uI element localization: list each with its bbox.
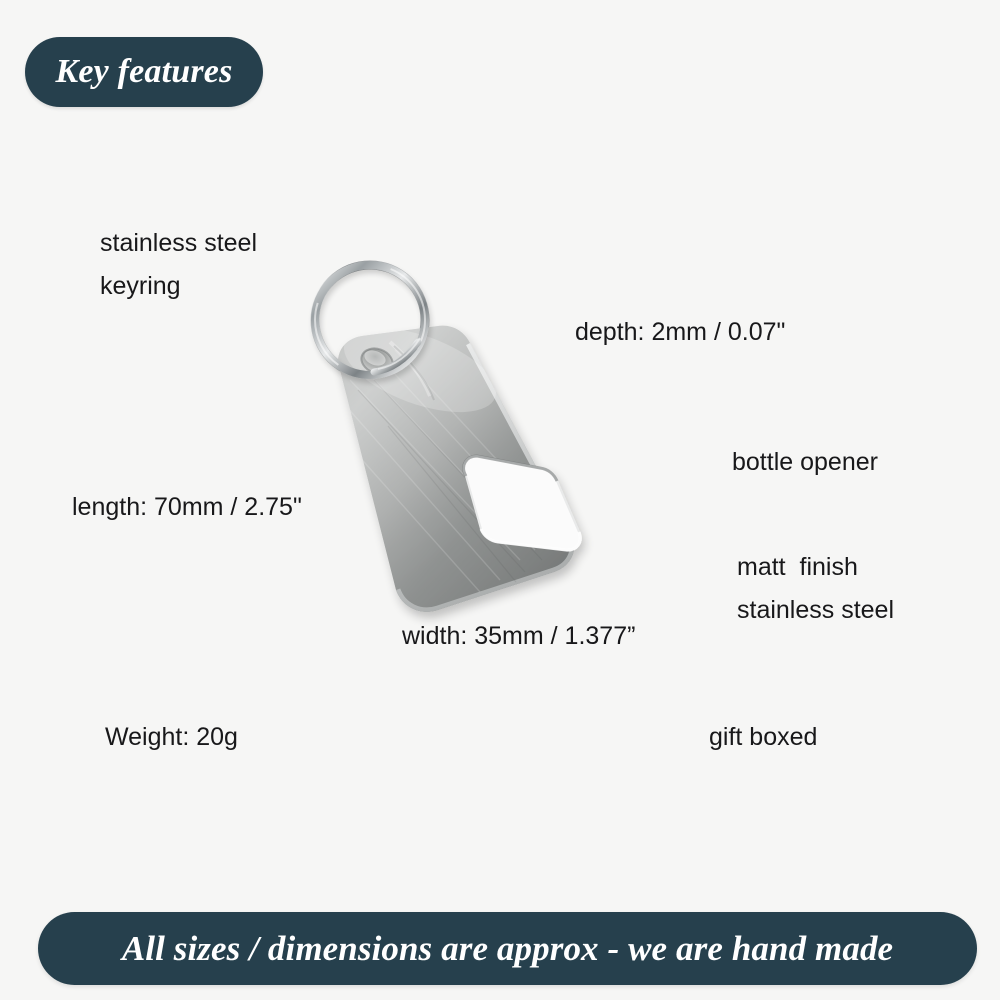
label-finish-line1: matt finish	[737, 546, 858, 589]
label-material-keyring-line1: stainless steel	[100, 222, 257, 265]
label-gift-boxed: gift boxed	[709, 716, 817, 759]
label-finish-line2: stainless steel	[737, 589, 894, 632]
key-features-badge: Key features	[25, 37, 263, 107]
product-image	[270, 230, 730, 650]
label-weight: Weight: 20g	[105, 716, 238, 759]
disclaimer-banner: All sizes / dimensions are approx - we a…	[38, 912, 977, 985]
label-width: width: 35mm / 1.377”	[402, 615, 635, 658]
label-depth: depth: 2mm / 0.07"	[575, 311, 785, 354]
keyring-illustration	[270, 230, 730, 650]
product-spec-infographic: Key features	[0, 0, 1000, 1000]
disclaimer-banner-label: All sizes / dimensions are approx - we a…	[122, 929, 893, 969]
key-features-badge-label: Key features	[55, 53, 232, 91]
label-length: length: 70mm / 2.75"	[72, 486, 302, 529]
label-bottle-opener: bottle opener	[732, 441, 878, 484]
label-material-keyring-line2: keyring	[100, 265, 181, 308]
keyring-tag-body	[333, 311, 580, 612]
